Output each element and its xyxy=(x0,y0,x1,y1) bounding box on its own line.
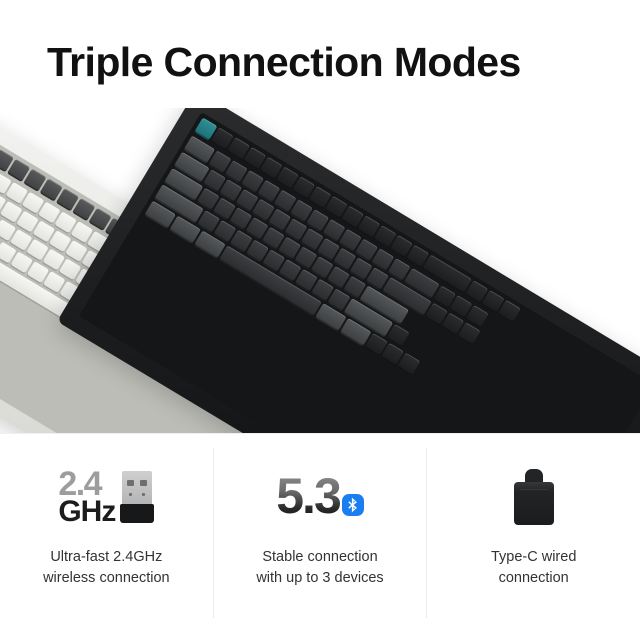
bluetooth-version-value: 5.3 xyxy=(276,473,340,521)
caption-line-2: with up to 3 devices xyxy=(256,570,383,586)
feature-caption: Ultra-fast 2.4GHz wireless connection xyxy=(43,547,170,589)
caption-line-1: Type-C wired xyxy=(491,549,576,565)
feature-24ghz-graphic: 2.4 GHz xyxy=(58,464,154,530)
bluetooth-lockup: 5.3 xyxy=(276,473,364,521)
feature-wireless-24ghz: 2.4 GHz Ultra-fast 2.4GHz wireless conne… xyxy=(0,434,213,640)
caption-line-1: Stable connection xyxy=(262,549,377,565)
ghz-unit: GHz xyxy=(58,499,115,524)
bluetooth-icon xyxy=(342,494,364,516)
type-c-body xyxy=(514,482,554,525)
usb-dongle-body xyxy=(120,504,154,523)
page-title: Triple Connection Modes xyxy=(47,40,521,86)
feature-type-c-wired: Type-C wired connection xyxy=(427,434,640,640)
hero-stage xyxy=(0,108,640,433)
product-feature-page: Triple Connection Modes xyxy=(0,0,640,640)
caption-line-2: connection xyxy=(499,570,569,586)
black-keyboard xyxy=(0,108,640,433)
feature-bluetooth-53: 5.3 Stable connection with up to 3 devic… xyxy=(214,434,427,640)
caption-line-2: wireless connection xyxy=(43,570,170,586)
usb-dongle-icon xyxy=(120,471,154,523)
feature-typec-graphic xyxy=(514,464,554,530)
hero-keyboard-image xyxy=(0,108,640,433)
feature-strip: 2.4 GHz Ultra-fast 2.4GHz wireless conne… xyxy=(0,434,640,640)
feature-bluetooth-graphic: 5.3 xyxy=(276,464,364,530)
caption-line-1: Ultra-fast 2.4GHz xyxy=(50,549,162,565)
ghz-lockup: 2.4 GHz xyxy=(58,470,154,524)
usb-connector xyxy=(122,471,152,505)
ghz-text: 2.4 GHz xyxy=(58,470,115,524)
usb-type-c-icon xyxy=(514,469,554,525)
feature-caption: Stable connection with up to 3 devices xyxy=(256,547,383,589)
feature-caption: Type-C wired connection xyxy=(491,547,576,589)
